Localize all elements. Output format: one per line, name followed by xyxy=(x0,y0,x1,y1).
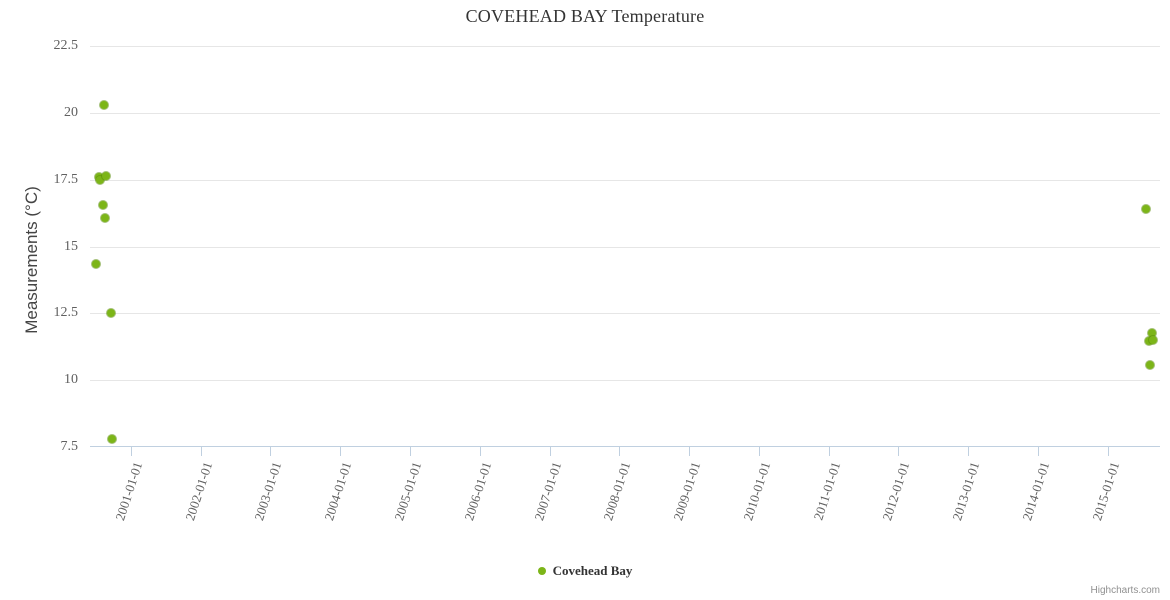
legend-item-label: Covehead Bay xyxy=(553,563,633,579)
chart-container: COVEHEAD BAY Temperature Measurements (°… xyxy=(0,0,1170,600)
x-axis-tick xyxy=(1108,447,1109,456)
x-axis-tick xyxy=(340,447,341,456)
y-axis-tick-label: 20 xyxy=(18,105,78,121)
x-axis-tick-label: 2015-01-01 xyxy=(1077,460,1123,560)
gridline-horizontal xyxy=(90,313,1160,314)
data-point[interactable] xyxy=(1146,361,1154,369)
gridline-horizontal xyxy=(90,180,1160,181)
x-axis-tick-label: 2009-01-01 xyxy=(658,460,704,560)
x-axis-tick xyxy=(619,447,620,456)
data-point[interactable] xyxy=(108,435,116,443)
plot-area: 7.51012.51517.52022.5 xyxy=(90,46,1160,447)
x-axis-tick-label: 2003-01-01 xyxy=(239,460,285,560)
y-axis-tick-label: 17.5 xyxy=(18,172,78,188)
x-axis-tick xyxy=(131,447,132,456)
x-axis-tick xyxy=(550,447,551,456)
x-axis-tick-label: 2008-01-01 xyxy=(588,460,634,560)
y-axis-tick-label: 15 xyxy=(18,239,78,255)
x-axis-tick-label: 2011-01-01 xyxy=(798,460,844,560)
x-axis-tick xyxy=(898,447,899,456)
x-axis-tick-label: 2014-01-01 xyxy=(1007,460,1053,560)
y-axis-tick-label: 22.5 xyxy=(18,38,78,54)
x-axis-tick xyxy=(689,447,690,456)
x-axis-tick xyxy=(829,447,830,456)
x-axis-tick-label: 2005-01-01 xyxy=(379,460,425,560)
legend-item-covehead-bay[interactable]: Covehead Bay xyxy=(538,563,633,579)
gridline-horizontal xyxy=(90,380,1160,381)
x-axis-tick-label: 2013-01-01 xyxy=(937,460,983,560)
x-axis-tick-label: 2001-01-01 xyxy=(100,460,146,560)
x-axis-tick xyxy=(480,447,481,456)
x-axis-tick-label: 2004-01-01 xyxy=(309,460,355,560)
x-axis-tick xyxy=(968,447,969,456)
gridline-horizontal xyxy=(90,46,1160,47)
data-point[interactable] xyxy=(101,214,109,222)
x-axis-tick-label: 2006-01-01 xyxy=(449,460,495,560)
x-axis-tick xyxy=(201,447,202,456)
x-axis-tick xyxy=(410,447,411,456)
y-axis-tick-label: 12.5 xyxy=(18,305,78,321)
data-point[interactable] xyxy=(1142,205,1150,213)
chart-legend: Covehead Bay xyxy=(0,562,1170,580)
y-axis-tick-label: 7.5 xyxy=(18,439,78,455)
x-axis-tick-label: 2010-01-01 xyxy=(728,460,774,560)
x-axis-tick xyxy=(759,447,760,456)
x-axis-tick-label: 2007-01-01 xyxy=(519,460,565,560)
x-axis-tick xyxy=(270,447,271,456)
x-axis-tick xyxy=(1038,447,1039,456)
gridline-horizontal xyxy=(90,113,1160,114)
legend-marker-icon xyxy=(538,567,546,575)
x-axis-tick-label: 2002-01-01 xyxy=(170,460,216,560)
chart-title: COVEHEAD BAY Temperature xyxy=(0,6,1170,27)
data-point[interactable] xyxy=(99,201,107,209)
data-point[interactable] xyxy=(107,309,115,317)
y-axis-tick-label: 10 xyxy=(18,372,78,388)
data-point[interactable] xyxy=(100,101,108,109)
gridline-horizontal xyxy=(90,247,1160,248)
x-axis-line xyxy=(90,446,1160,447)
data-point[interactable] xyxy=(92,260,100,268)
credits-link[interactable]: Highcharts.com xyxy=(1091,585,1160,596)
data-point[interactable] xyxy=(102,172,110,180)
x-axis-tick-label: 2012-01-01 xyxy=(868,460,914,560)
data-point[interactable] xyxy=(1149,336,1157,344)
